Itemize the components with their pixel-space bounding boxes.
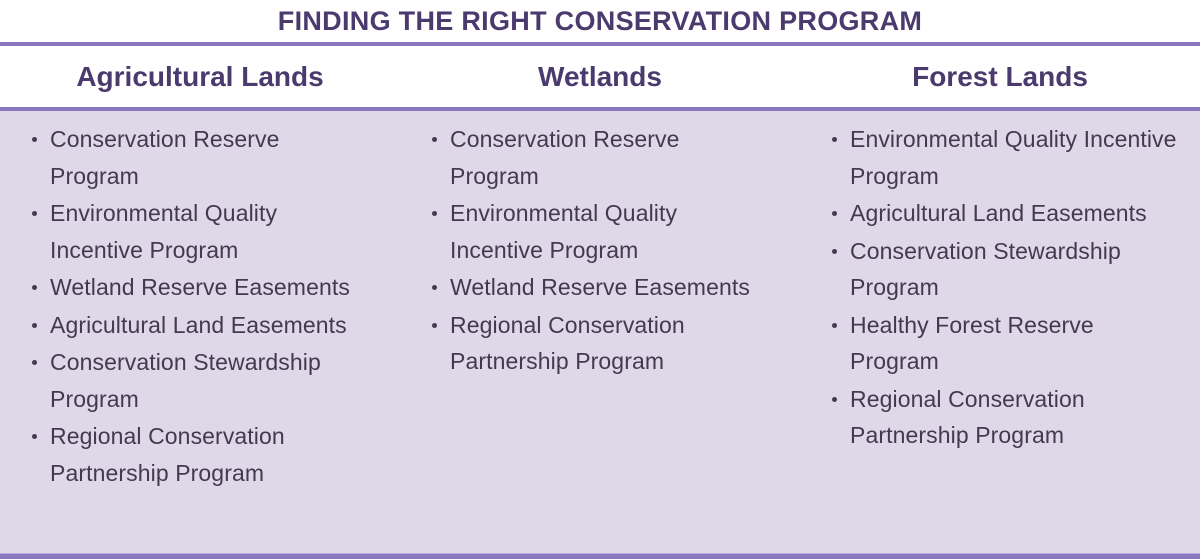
list-item: Conservation Reserve Program	[30, 121, 372, 194]
bullet-icon	[32, 285, 37, 290]
list-item: Conservation Reserve Program	[430, 121, 772, 194]
program-list-wetlands: Conservation Reserve Program Environment…	[430, 121, 772, 380]
column-header-row: Agricultural Lands Wetlands Forest Lands	[0, 46, 1200, 107]
list-item: Environmental Quality Incentive Program	[830, 121, 1180, 194]
bullet-icon	[432, 211, 437, 216]
list-item: Wetland Reserve Easements	[30, 269, 372, 306]
column-agricultural-lands: Conservation Reserve Program Environment…	[0, 121, 400, 492]
bullet-icon	[832, 249, 837, 254]
list-item: Conservation Stewardship Program	[30, 344, 372, 417]
list-item: Healthy Forest Reserve Program	[830, 307, 1180, 380]
bullet-icon	[432, 137, 437, 142]
list-item: Wetland Reserve Easements	[430, 269, 772, 306]
list-item: Regional Conservation Partnership Progra…	[30, 418, 372, 491]
list-item-label: Environmental Quality Incentive Program	[450, 200, 677, 263]
list-item-label: Regional Conservation Partnership Progra…	[850, 386, 1085, 449]
list-item: Agricultural Land Easements	[830, 195, 1180, 232]
list-item-label: Environmental Quality Incentive Program	[850, 126, 1177, 189]
list-item: Regional Conservation Partnership Progra…	[430, 307, 772, 380]
column-wetlands: Conservation Reserve Program Environment…	[400, 121, 800, 381]
bullet-icon	[832, 137, 837, 142]
bullet-icon	[32, 211, 37, 216]
divider-bottom	[0, 554, 1200, 559]
list-item-label: Regional Conservation Partnership Progra…	[50, 423, 285, 486]
bullet-icon	[432, 285, 437, 290]
list-item-label: Healthy Forest Reserve Program	[850, 312, 1094, 375]
conservation-program-infographic: FINDING THE RIGHT CONSERVATION PROGRAM A…	[0, 0, 1200, 559]
column-forest-lands: Environmental Quality Incentive Program …	[800, 121, 1200, 455]
bullet-icon	[832, 397, 837, 402]
list-item-label: Environmental Quality Incentive Program	[50, 200, 277, 263]
list-item: Environmental Quality Incentive Program	[30, 195, 372, 268]
list-item: Regional Conservation Partnership Progra…	[830, 381, 1180, 454]
list-item-label: Conservation Reserve Program	[50, 126, 280, 189]
title-band: FINDING THE RIGHT CONSERVATION PROGRAM	[0, 0, 1200, 42]
list-item: Conservation Stewardship Program	[830, 233, 1180, 306]
bullet-icon	[32, 434, 37, 439]
list-item-label: Wetland Reserve Easements	[50, 274, 350, 300]
bullet-icon	[32, 323, 37, 328]
list-item-label: Agricultural Land Easements	[50, 312, 347, 338]
columns-body: Conservation Reserve Program Environment…	[0, 111, 1200, 559]
list-item-label: Agricultural Land Easements	[850, 200, 1147, 226]
bullet-icon	[832, 211, 837, 216]
list-item-label: Regional Conservation Partnership Progra…	[450, 312, 685, 375]
bullet-icon	[432, 323, 437, 328]
page-title: FINDING THE RIGHT CONSERVATION PROGRAM	[278, 8, 922, 35]
bullet-icon	[32, 360, 37, 365]
list-item: Environmental Quality Incentive Program	[430, 195, 772, 268]
column-header-agricultural-lands: Agricultural Lands	[0, 63, 400, 91]
list-item-label: Conservation Reserve Program	[450, 126, 680, 189]
column-header-wetlands: Wetlands	[400, 63, 800, 91]
list-item-label: Conservation Stewardship Program	[50, 349, 321, 412]
bullet-icon	[832, 323, 837, 328]
program-list-agricultural-lands: Conservation Reserve Program Environment…	[30, 121, 372, 491]
list-item-label: Wetland Reserve Easements	[450, 274, 750, 300]
list-item: Agricultural Land Easements	[30, 307, 372, 344]
column-header-forest-lands: Forest Lands	[800, 63, 1200, 91]
list-item-label: Conservation Stewardship Program	[850, 238, 1121, 301]
program-list-forest-lands: Environmental Quality Incentive Program …	[830, 121, 1180, 454]
bullet-icon	[32, 137, 37, 142]
